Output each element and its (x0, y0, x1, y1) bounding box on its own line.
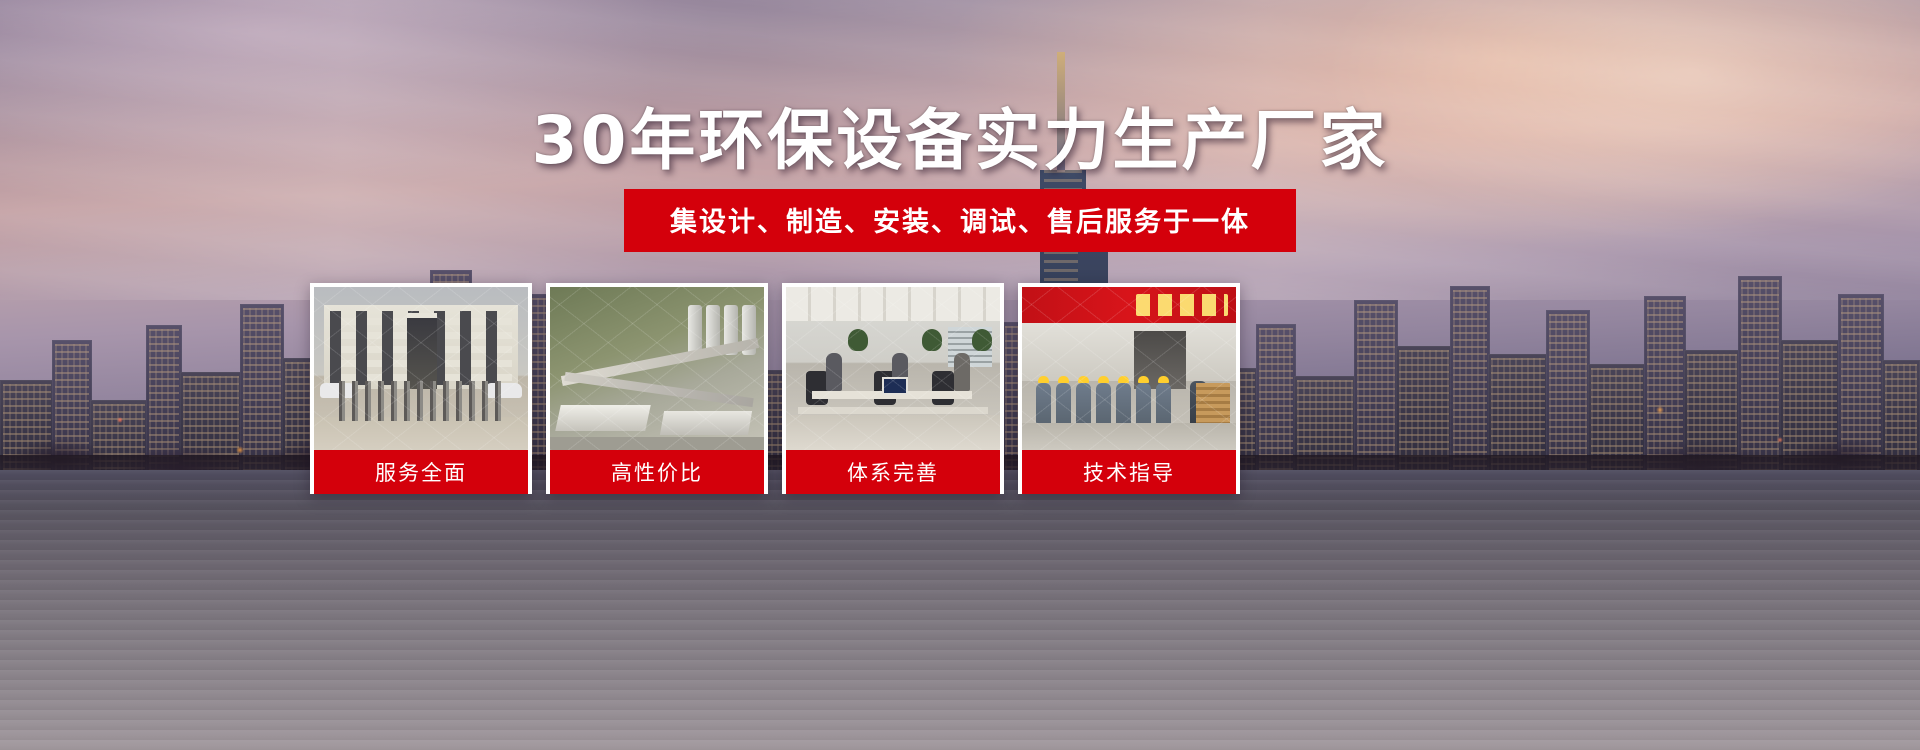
feature-card-caption: 体系完善 (786, 450, 1000, 494)
office-workspace-photo (786, 287, 1000, 450)
page-title: 30年环保设备实力生产厂家 (0, 106, 1920, 176)
feature-card-caption: 服务全面 (314, 450, 528, 494)
hero-banner: 30年环保设备实力生产厂家 集设计、制造、安装、调试、售后服务于一体 服务全面 … (0, 0, 1920, 750)
feature-card[interactable]: 技术指导 (1018, 283, 1240, 494)
feature-card-caption: 高性价比 (550, 450, 764, 494)
aerial-factory-plant-photo (550, 287, 764, 450)
workers-factory-entrance-photo (1022, 287, 1236, 450)
feature-card[interactable]: 体系完善 (782, 283, 1004, 494)
feature-card-list: 服务全面 高性价比 体系完善 (310, 283, 1240, 494)
feature-card[interactable]: 高性价比 (546, 283, 768, 494)
feature-card[interactable]: 服务全面 (310, 283, 532, 494)
subtitle-badge: 集设计、制造、安装、调试、售后服务于一体 (624, 189, 1296, 252)
feature-card-caption: 技术指导 (1022, 450, 1236, 494)
company-building-staff-photo (314, 287, 528, 450)
water-reflection (0, 470, 1920, 750)
